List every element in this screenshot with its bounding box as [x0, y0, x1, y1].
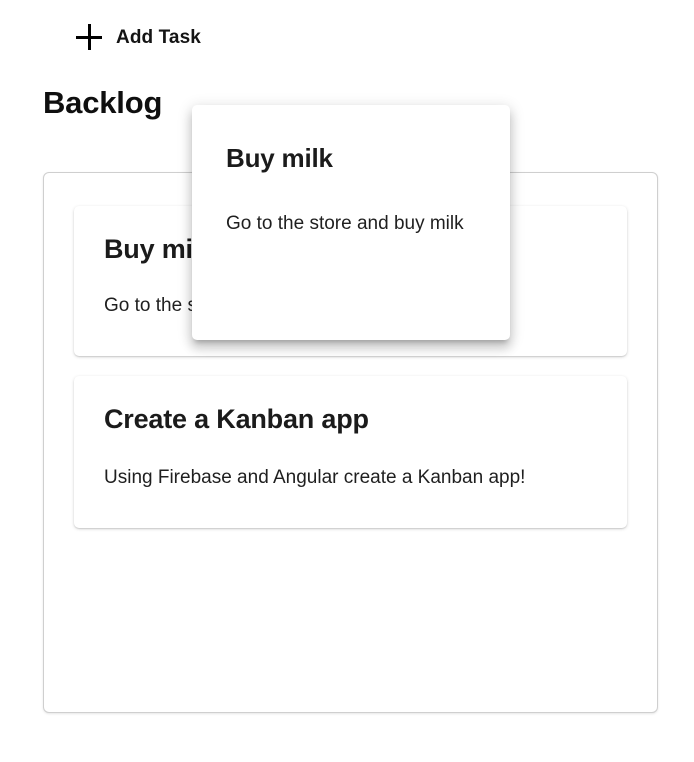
- plus-icon: [76, 24, 102, 50]
- drag-preview-card[interactable]: Buy milk Go to the store and buy milk: [192, 105, 510, 340]
- task-card[interactable]: Create a Kanban app Using Firebase and A…: [74, 376, 627, 528]
- task-card-title: Create a Kanban app: [104, 402, 597, 436]
- task-card-description: Using Firebase and Angular create a Kanb…: [104, 458, 597, 498]
- column-title-backlog: Backlog: [43, 84, 162, 122]
- drag-preview-title: Buy milk: [226, 142, 476, 174]
- drag-preview-description: Go to the store and buy milk: [226, 204, 476, 244]
- add-task-label: Add Task: [116, 28, 201, 47]
- add-task-button[interactable]: Add Task: [66, 18, 211, 56]
